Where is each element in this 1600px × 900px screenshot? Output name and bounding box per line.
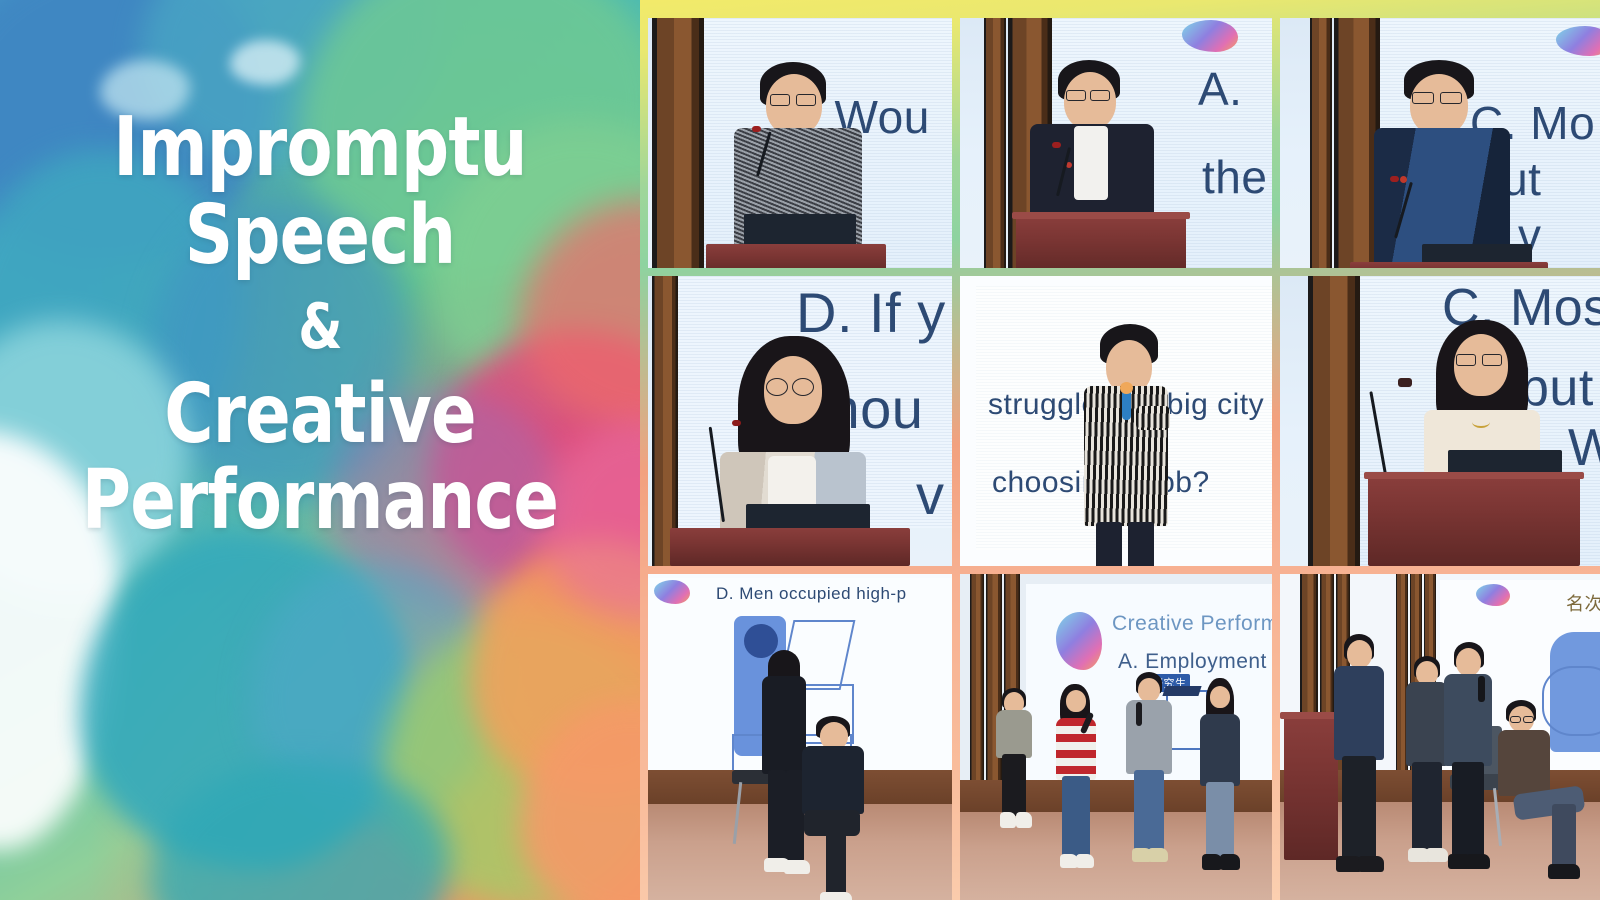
performer-2 (1056, 684, 1098, 874)
shoe (1000, 812, 1016, 828)
glasses (1456, 354, 1476, 366)
leg (1412, 762, 1442, 852)
glasses (1440, 92, 1462, 104)
photo-grid: . Wou (640, 0, 1600, 900)
head (1066, 690, 1086, 712)
poster-root: Impromptu Speech & Creative Performance … (0, 0, 1600, 900)
torso (1406, 682, 1448, 766)
glasses (796, 94, 816, 106)
microphone-head (1390, 176, 1399, 182)
podium-top (1364, 472, 1584, 479)
glasses (766, 378, 788, 396)
scene-creative-performance-skit: 名次 (1280, 574, 1600, 900)
glasses (1090, 90, 1110, 101)
speaker-figure (722, 336, 862, 526)
necklace (1472, 416, 1490, 428)
shoe (1148, 848, 1168, 862)
title-line-4: Creative (58, 375, 583, 455)
scene-impromptu-speech: C. Mo but v (1280, 18, 1600, 268)
lapel-pin (1400, 176, 1407, 183)
performer-2 (1406, 656, 1448, 876)
microphone-head (1398, 378, 1412, 387)
performer-1 (1334, 634, 1384, 884)
photo-cell-bottom-right[interactable]: 名次 (1280, 574, 1600, 900)
head (1210, 686, 1230, 708)
photo-cell-bottom-center[interactable]: Creative Performance A. Employment 研究生 (960, 574, 1272, 900)
glasses (1482, 354, 1502, 366)
torso (802, 746, 864, 814)
wood-column (1310, 18, 1332, 268)
leg (1552, 804, 1576, 870)
microphone-head (1052, 142, 1061, 148)
glasses (1412, 92, 1434, 104)
slide-text: v (916, 462, 945, 527)
podium (1350, 262, 1548, 268)
podium-top (1280, 712, 1342, 719)
photo-cell-middle-left[interactable]: D. If y shou v (648, 276, 952, 566)
glasses (1523, 716, 1534, 723)
leg (1134, 770, 1164, 852)
wood-column (1308, 276, 1360, 566)
performer-1 (994, 688, 1034, 848)
wood-column (652, 276, 678, 566)
wood-column (652, 18, 704, 268)
microphone-head (732, 420, 741, 426)
leg (1342, 756, 1376, 860)
handheld-microphone (1478, 676, 1485, 702)
scene-impromptu-speech: A. the (960, 18, 1272, 268)
shoe (1358, 856, 1384, 872)
handheld-microphone (1136, 702, 1142, 726)
scene-impromptu-speech: . Wou (648, 18, 952, 268)
head (1456, 648, 1481, 676)
photo-cell-bottom-left[interactable]: D. Men occupied high-p (648, 574, 952, 900)
scene-creative-performance-group: Creative Performance A. Employment 研究生 (960, 574, 1272, 900)
performer-4 (1198, 678, 1242, 874)
glasses (770, 94, 790, 106)
slide-text: the (1202, 150, 1267, 204)
podium (1368, 476, 1580, 566)
slide-text: W (1568, 418, 1600, 478)
shoe (1220, 854, 1240, 870)
title-ampersand: & (58, 297, 583, 357)
shoe (1548, 864, 1580, 879)
scene-impromptu-speech-stage: struggle in a big city like choosing a j… (960, 276, 1272, 566)
scene-creative-performance: D. Men occupied high-p (648, 574, 952, 900)
torso (996, 710, 1032, 758)
performer-seated (798, 716, 870, 886)
slide-title: Creative Performance (1112, 612, 1272, 636)
photo-cell-top-left[interactable]: . Wou (648, 18, 952, 268)
torso (1200, 714, 1240, 786)
laptop (744, 214, 856, 248)
slide-text: 名次 (1566, 590, 1600, 616)
leg (1002, 754, 1026, 816)
head (1410, 74, 1468, 136)
podium (706, 244, 886, 268)
leg (826, 830, 846, 896)
performer-3 (1444, 642, 1492, 876)
scene-impromptu-speech: C. Mos but t W (1280, 276, 1600, 566)
watercolor-blob (230, 40, 300, 85)
title-panel: Impromptu Speech & Creative Performance (0, 0, 640, 900)
podium (1016, 216, 1186, 268)
torso-striped (1056, 718, 1096, 780)
leg (1096, 522, 1122, 566)
leg (1206, 782, 1234, 858)
title-line-1: Impromptu (58, 108, 583, 188)
photo-cell-middle-right[interactable]: C. Mos but t W (1280, 276, 1600, 566)
wood-column (984, 18, 1006, 268)
slide-text: A. (1198, 62, 1242, 116)
performer-seated (1496, 700, 1592, 880)
head (1064, 72, 1116, 130)
podium-top (1012, 212, 1190, 219)
leg (768, 770, 786, 862)
speaker-figure (1078, 324, 1178, 566)
poster-title: Impromptu Speech & Creative Performance (0, 108, 640, 540)
torso-hoodie (1126, 700, 1172, 774)
shoe (1466, 854, 1490, 869)
title-line-5: Performance (58, 461, 583, 541)
slide-text: D. Men occupied high-p (716, 584, 907, 604)
shirt (1074, 126, 1108, 200)
photo-cell-middle-center[interactable]: struggle in a big city like choosing a j… (960, 276, 1272, 566)
leg (1062, 776, 1090, 858)
torso (1498, 730, 1550, 796)
performer-3 (1126, 672, 1172, 872)
head (1347, 640, 1372, 668)
shoe (1016, 812, 1032, 828)
photo-cell-top-right[interactable]: C. Mo but v (1280, 18, 1600, 268)
microphone-head (1120, 382, 1133, 394)
scene-impromptu-speech: D. If y shou v (648, 276, 952, 566)
glasses (792, 378, 814, 396)
podium (1284, 716, 1338, 860)
glasses (1510, 716, 1521, 723)
shoe (820, 892, 852, 900)
shoe (1202, 854, 1222, 870)
glasses (1066, 90, 1086, 101)
podium (670, 528, 910, 566)
leg (1128, 522, 1154, 566)
handheld-microphone (1122, 390, 1131, 420)
torso (1334, 666, 1384, 760)
leg (1452, 762, 1484, 858)
microphone-head (752, 126, 761, 132)
slide-text: A. Employment (1118, 650, 1267, 674)
shoe (1076, 854, 1094, 868)
title-line-2: Speech (58, 196, 583, 276)
head (1138, 678, 1160, 702)
arm (1136, 406, 1170, 430)
laptop (1422, 244, 1532, 264)
laptop (746, 504, 870, 530)
photo-cell-top-center[interactable]: A. the (960, 18, 1272, 268)
